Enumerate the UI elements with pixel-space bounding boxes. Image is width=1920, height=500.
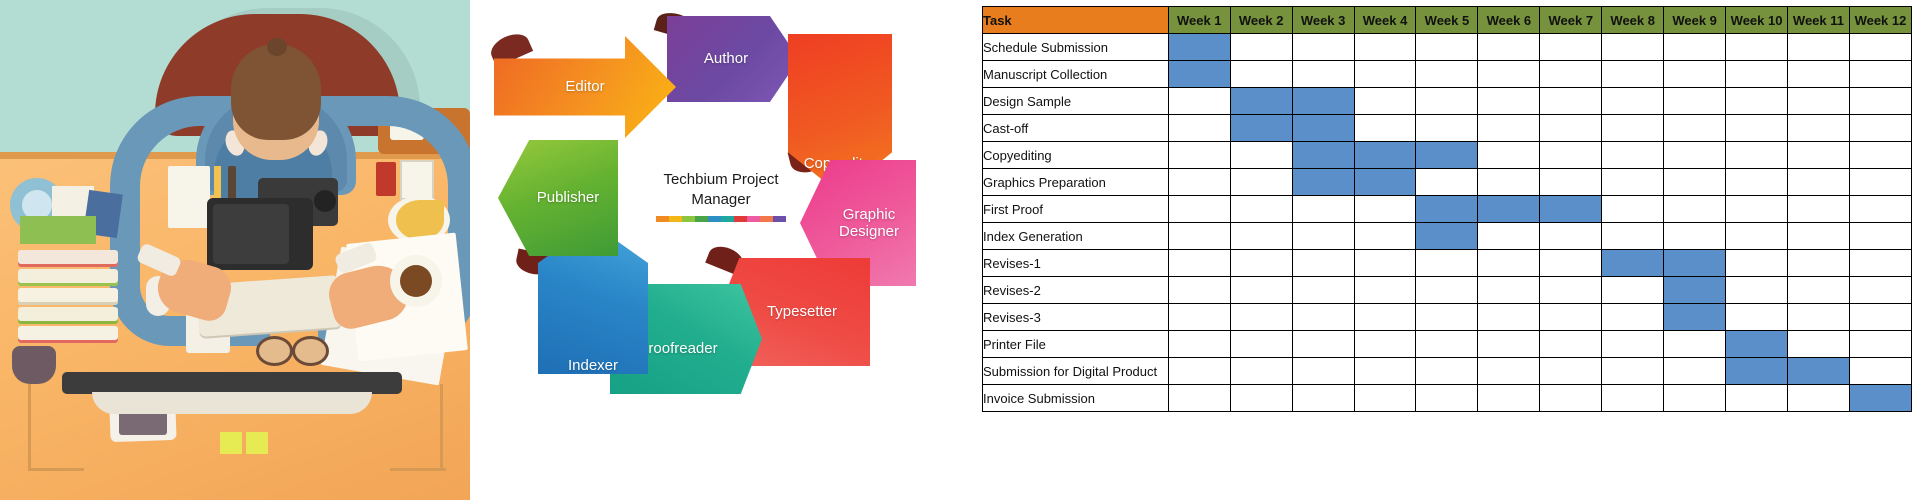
graphics-tablet-screen [213, 204, 289, 264]
cable-right-2 [390, 468, 446, 471]
gantt-empty-cell [1602, 34, 1664, 61]
gantt-empty-cell [1788, 61, 1850, 88]
gantt-empty-cell [1849, 277, 1911, 304]
gantt-bar-cell [1416, 196, 1478, 223]
gantt-empty-cell [1416, 304, 1478, 331]
gantt-empty-cell [1230, 223, 1292, 250]
cycle-label-proofreader: Proofreader [638, 340, 717, 357]
book-5 [18, 326, 118, 343]
gantt-empty-cell [1849, 358, 1911, 385]
gantt-empty-cell [1664, 331, 1726, 358]
gantt-empty-cell [1726, 169, 1788, 196]
gantt-header-row: Task Week 1Week 2Week 3Week 4Week 5Week … [983, 7, 1912, 34]
gantt-empty-cell [1602, 196, 1664, 223]
gantt-empty-cell [1602, 223, 1664, 250]
gantt-task-label: Graphics Preparation [983, 169, 1169, 196]
gantt-task-label: First Proof [983, 196, 1169, 223]
gantt-empty-cell [1788, 331, 1850, 358]
gantt-empty-cell [1168, 250, 1230, 277]
gantt-week-header-9: Week 9 [1664, 7, 1726, 34]
gantt-empty-cell [1788, 88, 1850, 115]
gantt-empty-cell [1540, 331, 1602, 358]
gantt-week-header-8: Week 8 [1602, 7, 1664, 34]
cycle-bar-segment-2 [669, 216, 682, 222]
cycle-center-title-line1: Techbium Project [626, 170, 816, 190]
gantt-task-label: Schedule Submission [983, 34, 1169, 61]
gantt-empty-cell [1416, 88, 1478, 115]
gantt-chart-panel: Task Week 1Week 2Week 3Week 4Week 5Week … [970, 0, 1920, 500]
gantt-week-header-12: Week 12 [1849, 7, 1911, 34]
gantt-week-header-11: Week 11 [1788, 7, 1850, 34]
gantt-bar-cell [1292, 169, 1354, 196]
gantt-task-label: Revises-1 [983, 250, 1169, 277]
gantt-empty-cell [1478, 385, 1540, 412]
gantt-task-label: Submission for Digital Product [983, 358, 1169, 385]
gantt-empty-cell [1230, 169, 1292, 196]
gantt-task-label: Printer File [983, 331, 1169, 358]
gantt-week-header-5: Week 5 [1416, 7, 1478, 34]
gantt-empty-cell [1292, 358, 1354, 385]
gantt-empty-cell [1540, 304, 1602, 331]
gantt-empty-cell [1664, 358, 1726, 385]
gantt-bar-cell [1416, 223, 1478, 250]
workflow-cycle-diagram: Author Copyeditor Graphic Designer Types… [470, 0, 970, 500]
gantt-bar-cell [1726, 331, 1788, 358]
gantt-empty-cell [1664, 61, 1726, 88]
gantt-empty-cell [1849, 34, 1911, 61]
cycle-bar-segment-8 [747, 216, 760, 222]
gantt-empty-cell [1726, 142, 1788, 169]
gantt-bar-cell [1354, 169, 1416, 196]
gantt-empty-cell [1788, 34, 1850, 61]
gantt-empty-cell [1726, 115, 1788, 142]
gantt-empty-cell [1354, 277, 1416, 304]
gantt-empty-cell [1354, 88, 1416, 115]
gantt-empty-cell [1726, 196, 1788, 223]
cycle-bar-segment-6 [721, 216, 734, 222]
gantt-empty-cell [1540, 115, 1602, 142]
gantt-empty-cell [1849, 196, 1911, 223]
gantt-empty-cell [1230, 304, 1292, 331]
table-row: Printer File [983, 331, 1912, 358]
cycle-bar-segment-7 [734, 216, 747, 222]
gantt-empty-cell [1478, 115, 1540, 142]
book-3 [18, 288, 118, 305]
gantt-empty-cell [1726, 88, 1788, 115]
gantt-bar-cell [1664, 277, 1726, 304]
table-row: Revises-3 [983, 304, 1912, 331]
cycle-arrow-publisher[interactable]: Publisher [498, 140, 618, 256]
gantt-empty-cell [1726, 61, 1788, 88]
table-row: Invoice Submission [983, 385, 1912, 412]
gantt-empty-cell [1354, 61, 1416, 88]
gantt-empty-cell [1478, 250, 1540, 277]
gantt-task-column-header: Task [983, 7, 1169, 34]
gantt-task-label: Design Sample [983, 88, 1169, 115]
cycle-center-title: Techbium Project Manager [626, 170, 816, 222]
gantt-empty-cell [1478, 223, 1540, 250]
gantt-bar-cell [1230, 115, 1292, 142]
gantt-empty-cell [1478, 277, 1540, 304]
gantt-empty-cell [1602, 61, 1664, 88]
gantt-empty-cell [1354, 223, 1416, 250]
gantt-empty-cell [1416, 250, 1478, 277]
gantt-empty-cell [1292, 277, 1354, 304]
gantt-bar-cell [1664, 250, 1726, 277]
gantt-empty-cell [1788, 304, 1850, 331]
gantt-task-label: Index Generation [983, 223, 1169, 250]
cycle-label-typesetter: Typesetter [767, 303, 837, 320]
gantt-empty-cell [1788, 223, 1850, 250]
gantt-empty-cell [1849, 304, 1911, 331]
cycle-label-editor: Editor [565, 78, 604, 95]
gantt-week-header-10: Week 10 [1726, 7, 1788, 34]
gantt-empty-cell [1354, 331, 1416, 358]
gantt-empty-cell [1726, 385, 1788, 412]
table-row: Graphics Preparation [983, 169, 1912, 196]
gantt-empty-cell [1478, 88, 1540, 115]
gantt-empty-cell [1726, 34, 1788, 61]
gantt-empty-cell [1354, 250, 1416, 277]
gantt-empty-cell [1602, 358, 1664, 385]
gantt-empty-cell [1416, 331, 1478, 358]
table-row: Copyediting [983, 142, 1912, 169]
gantt-empty-cell [1168, 88, 1230, 115]
gantt-bar-cell [1416, 142, 1478, 169]
gantt-empty-cell [1478, 304, 1540, 331]
gantt-empty-cell [1726, 304, 1788, 331]
gantt-empty-cell [1292, 250, 1354, 277]
gantt-empty-cell [1540, 88, 1602, 115]
cycle-bar-segment-9 [760, 216, 773, 222]
gantt-empty-cell [1354, 304, 1416, 331]
gantt-empty-cell [1602, 115, 1664, 142]
book-2 [18, 269, 118, 286]
gantt-empty-cell [1664, 142, 1726, 169]
gantt-empty-cell [1416, 277, 1478, 304]
gantt-week-header-3: Week 3 [1292, 7, 1354, 34]
cycle-arrow-author[interactable]: Author [667, 16, 799, 102]
gantt-bar-cell [1849, 385, 1911, 412]
gantt-empty-cell [1354, 196, 1416, 223]
gantt-bar-cell [1168, 34, 1230, 61]
gantt-empty-cell [1849, 142, 1911, 169]
cycle-label-graphic-designer-line2: Designer [839, 223, 899, 240]
cycle-bar-segment-1 [656, 216, 669, 222]
gantt-empty-cell [1230, 358, 1292, 385]
gantt-task-label: Revises-2 [983, 277, 1169, 304]
cycle-bar-segment-3 [682, 216, 695, 222]
cycle-bar-segment-4 [695, 216, 708, 222]
gantt-empty-cell [1168, 115, 1230, 142]
cycle-center-title-line2: Manager [626, 190, 816, 210]
gantt-table-body: Schedule SubmissionManuscript Collection… [983, 34, 1912, 412]
table-row: First Proof [983, 196, 1912, 223]
gantt-bar-cell [1168, 61, 1230, 88]
gantt-empty-cell [1478, 331, 1540, 358]
cycle-bar-segment-10 [773, 216, 786, 222]
gantt-bar-cell [1478, 196, 1540, 223]
gantt-empty-cell [1540, 34, 1602, 61]
hair [231, 44, 321, 140]
gantt-empty-cell [1849, 61, 1911, 88]
gantt-empty-cell [1354, 385, 1416, 412]
gantt-bar-cell [1292, 88, 1354, 115]
gantt-bar-cell [1726, 358, 1788, 385]
cycle-label-author: Author [704, 50, 748, 67]
gantt-empty-cell [1540, 169, 1602, 196]
gantt-empty-cell [1168, 304, 1230, 331]
gantt-empty-cell [1664, 169, 1726, 196]
gantt-empty-cell [1478, 169, 1540, 196]
gantt-empty-cell [1664, 34, 1726, 61]
gantt-empty-cell [1168, 358, 1230, 385]
gantt-week-header-4: Week 4 [1354, 7, 1416, 34]
gantt-week-header-6: Week 6 [1478, 7, 1540, 34]
gantt-empty-cell [1292, 385, 1354, 412]
table-row: Revises-1 [983, 250, 1912, 277]
cycle-label-indexer: Indexer [568, 357, 618, 374]
gantt-empty-cell [1602, 169, 1664, 196]
table-row: Index Generation [983, 223, 1912, 250]
desk-illustration-panel [0, 0, 470, 500]
gantt-bar-cell [1664, 304, 1726, 331]
gantt-week-header-1: Week 1 [1168, 7, 1230, 34]
gantt-empty-cell [1602, 88, 1664, 115]
sticky-note-a-icon [220, 432, 242, 454]
table-row: Manuscript Collection [983, 61, 1912, 88]
gantt-empty-cell [1354, 115, 1416, 142]
gantt-empty-cell [1416, 358, 1478, 385]
gantt-empty-cell [1354, 34, 1416, 61]
gantt-empty-cell [1230, 250, 1292, 277]
gantt-empty-cell [1602, 331, 1664, 358]
gantt-task-label: Copyediting [983, 142, 1169, 169]
gantt-empty-cell [1849, 250, 1911, 277]
gantt-bar-cell [1354, 142, 1416, 169]
gantt-empty-cell [1416, 34, 1478, 61]
gantt-task-label: Cast-off [983, 115, 1169, 142]
gantt-empty-cell [1849, 115, 1911, 142]
gantt-empty-cell [1849, 331, 1911, 358]
table-row: Design Sample [983, 88, 1912, 115]
gantt-empty-cell [1602, 277, 1664, 304]
gantt-empty-cell [1478, 358, 1540, 385]
gantt-empty-cell [1354, 358, 1416, 385]
gantt-empty-cell [1230, 331, 1292, 358]
hair-bun [267, 38, 287, 56]
gantt-empty-cell [1540, 385, 1602, 412]
gantt-empty-cell [1478, 61, 1540, 88]
gantt-task-label: Invoice Submission [983, 385, 1169, 412]
gantt-empty-cell [1726, 277, 1788, 304]
gantt-empty-cell [1416, 115, 1478, 142]
gantt-empty-cell [1478, 142, 1540, 169]
gantt-empty-cell [1292, 304, 1354, 331]
cycle-label-graphic-designer-line1: Graphic [843, 206, 896, 223]
table-row: Cast-off [983, 115, 1912, 142]
camera-lens-icon [314, 190, 336, 212]
gantt-empty-cell [1230, 142, 1292, 169]
sticky-note-b-icon [246, 432, 268, 454]
cable-left [28, 384, 31, 470]
gantt-empty-cell [1230, 61, 1292, 88]
gantt-empty-cell [1602, 142, 1664, 169]
gantt-table: Task Week 1Week 2Week 3Week 4Week 5Week … [982, 6, 1912, 412]
gantt-empty-cell [1168, 385, 1230, 412]
eyeglasses-right-lens [292, 336, 329, 366]
gantt-bar-cell [1540, 196, 1602, 223]
mug-icon [12, 346, 56, 384]
gantt-task-label: Manuscript Collection [983, 61, 1169, 88]
table-row: Schedule Submission [983, 34, 1912, 61]
monitor-base [92, 392, 372, 414]
gantt-empty-cell [1849, 88, 1911, 115]
gantt-empty-cell [1540, 277, 1602, 304]
gantt-empty-cell [1664, 223, 1726, 250]
color-swatch-c-icon [20, 216, 96, 244]
gantt-empty-cell [1168, 169, 1230, 196]
book-4 [18, 307, 118, 324]
eyeglasses-left-lens [256, 336, 293, 366]
gantt-empty-cell [1664, 115, 1726, 142]
gantt-empty-cell [1602, 304, 1664, 331]
gantt-empty-cell [1292, 331, 1354, 358]
gantt-empty-cell [1540, 358, 1602, 385]
cycle-center-color-bar [656, 216, 786, 222]
gantt-empty-cell [1540, 250, 1602, 277]
gantt-bar-cell [1292, 142, 1354, 169]
gantt-empty-cell [1230, 385, 1292, 412]
gantt-task-label: Revises-3 [983, 304, 1169, 331]
gantt-empty-cell [1726, 250, 1788, 277]
gantt-empty-cell [1849, 169, 1911, 196]
cable-right [440, 384, 443, 470]
gantt-empty-cell [1788, 142, 1850, 169]
gantt-empty-cell [1478, 34, 1540, 61]
book-1 [18, 250, 118, 267]
gantt-bar-cell [1292, 115, 1354, 142]
gantt-empty-cell [1230, 34, 1292, 61]
gantt-empty-cell [1664, 196, 1726, 223]
gantt-empty-cell [1788, 169, 1850, 196]
gantt-empty-cell [1416, 61, 1478, 88]
cable-left-2 [28, 468, 84, 471]
monitor-icon [62, 372, 402, 394]
gantt-empty-cell [1788, 250, 1850, 277]
gantt-empty-cell [1849, 223, 1911, 250]
gantt-empty-cell [1292, 34, 1354, 61]
book-stack-icon [18, 250, 118, 346]
gantt-empty-cell [1292, 61, 1354, 88]
gantt-bar-cell [1788, 358, 1850, 385]
composite-stage: Author Copyeditor Graphic Designer Types… [0, 0, 1920, 500]
gantt-empty-cell [1540, 142, 1602, 169]
gantt-empty-cell [1416, 169, 1478, 196]
gantt-empty-cell [1540, 61, 1602, 88]
gantt-empty-cell [1540, 223, 1602, 250]
gantt-empty-cell [1230, 277, 1292, 304]
gantt-empty-cell [1602, 385, 1664, 412]
gantt-empty-cell [1416, 385, 1478, 412]
gantt-empty-cell [1664, 385, 1726, 412]
table-row: Submission for Digital Product [983, 358, 1912, 385]
gantt-empty-cell [1726, 223, 1788, 250]
eyeglasses-icon [256, 336, 326, 360]
gantt-empty-cell [1168, 331, 1230, 358]
gantt-empty-cell [1168, 277, 1230, 304]
gantt-empty-cell [1788, 277, 1850, 304]
gantt-empty-cell [1168, 223, 1230, 250]
coffee-liquid [400, 265, 432, 297]
gantt-empty-cell [1292, 223, 1354, 250]
cycle-label-publisher: Publisher [537, 189, 600, 206]
cycle-bar-segment-5 [708, 216, 721, 222]
gantt-bar-cell [1602, 250, 1664, 277]
gantt-empty-cell [1664, 88, 1726, 115]
gantt-empty-cell [1292, 196, 1354, 223]
notebook-icon [168, 166, 210, 228]
gantt-bar-cell [1230, 88, 1292, 115]
gantt-empty-cell [1168, 142, 1230, 169]
gantt-week-header-2: Week 2 [1230, 7, 1292, 34]
gantt-empty-cell [1168, 196, 1230, 223]
gantt-empty-cell [1788, 385, 1850, 412]
gantt-empty-cell [1788, 196, 1850, 223]
table-row: Revises-2 [983, 277, 1912, 304]
gantt-empty-cell [1788, 115, 1850, 142]
cycle-label-graphic-designer: Graphic Designer [839, 206, 899, 241]
gantt-empty-cell [1230, 196, 1292, 223]
gantt-table-head: Task Week 1Week 2Week 3Week 4Week 5Week … [983, 7, 1912, 34]
gantt-week-header-7: Week 7 [1540, 7, 1602, 34]
